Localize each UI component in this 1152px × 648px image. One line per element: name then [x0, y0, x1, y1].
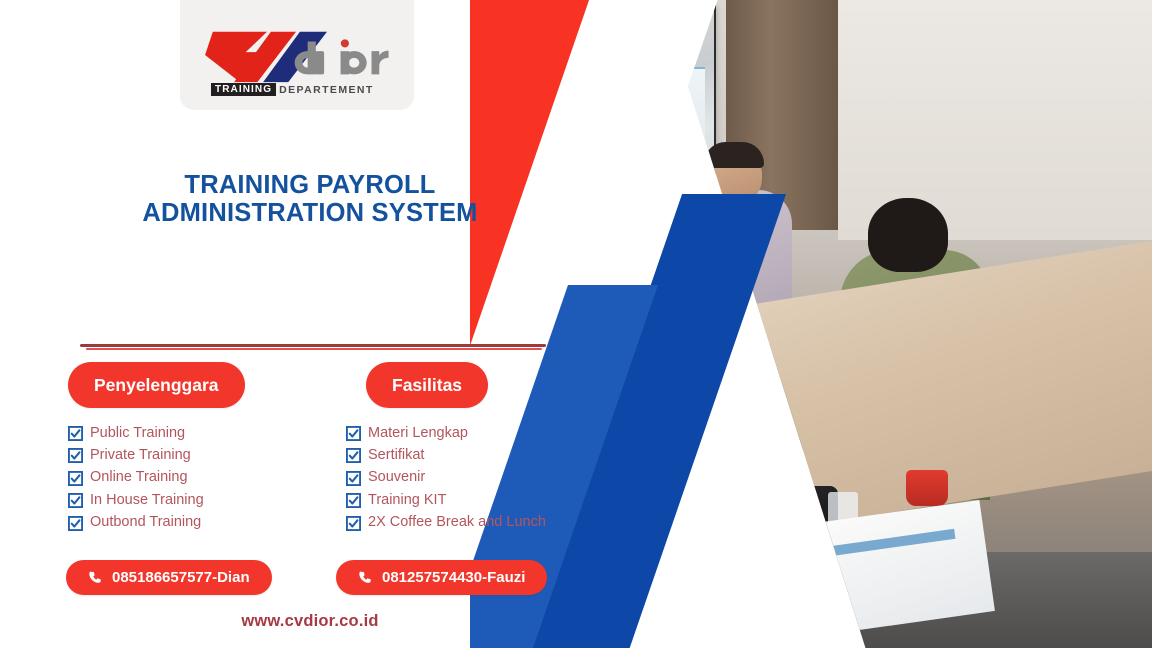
- checkbox-checked-icon: [68, 426, 83, 441]
- list-item: Public Training: [68, 422, 338, 444]
- list-item-label: Outbond Training: [90, 512, 201, 533]
- checkbox-checked-icon: [346, 516, 361, 531]
- checkbox-checked-icon: [346, 448, 361, 463]
- contact-button-dian[interactable]: 085186657577-Dian: [66, 560, 272, 595]
- list-item-label: Training KIT: [368, 490, 446, 511]
- logo-subtitle: TRAINING DEPARTEMENT: [195, 83, 399, 96]
- checkbox-checked-icon: [346, 493, 361, 508]
- list-item-label: 2X Coffee Break and Lunch: [368, 512, 546, 533]
- cv-dior-logo-icon: [195, 26, 399, 86]
- list-item-label: In House Training: [90, 490, 204, 511]
- divider-line-light: [86, 348, 542, 350]
- photo-bag: [726, 486, 838, 546]
- list-item: Materi Lengkap: [346, 422, 616, 444]
- poster-title: TRAINING PAYROLL ADMINISTRATION SYSTEM: [0, 172, 620, 227]
- list-item: Online Training: [68, 467, 338, 489]
- contact-label: 081257574430-Fauzi: [382, 569, 525, 586]
- list-penyelenggara: Public Training Private Training: [68, 422, 338, 534]
- website-url[interactable]: www.cvdior.co.id: [0, 612, 620, 631]
- list-item: In House Training: [68, 489, 338, 511]
- checkbox-checked-icon: [68, 516, 83, 531]
- poster-title-line2: ADMINISTRATION SYSTEM: [0, 200, 620, 228]
- contact-label: 085186657577-Dian: [112, 569, 250, 586]
- checkbox-checked-icon: [346, 471, 361, 486]
- list-item: Sertifikat: [346, 444, 616, 466]
- checkbox-checked-icon: [346, 426, 361, 441]
- promo-poster: TRAINING DEPARTEMENT TRAINING PAYROLL AD…: [0, 0, 1152, 648]
- list-item-label: Materi Lengkap: [368, 423, 468, 444]
- list-fasilitas: Materi Lengkap Sertifikat: [346, 422, 616, 534]
- phone-icon: [88, 570, 103, 585]
- photo-coffee-cup: [702, 448, 736, 474]
- logo-training-tag: TRAINING: [211, 83, 276, 96]
- phone-icon: [358, 570, 373, 585]
- list-item-label: Private Training: [90, 445, 191, 466]
- photo-pen: [676, 487, 732, 503]
- list-item-label: Souvenir: [368, 467, 425, 488]
- list-item: Training KIT: [346, 489, 616, 511]
- list-item: Private Training: [68, 444, 338, 466]
- column-penyelenggara: Penyelenggara Public Training: [68, 362, 338, 534]
- logo-departement-text: DEPARTEMENT: [279, 84, 374, 96]
- contact-button-fauzi[interactable]: 081257574430-Fauzi: [336, 560, 547, 595]
- poster-title-line1: TRAINING PAYROLL: [184, 171, 435, 199]
- brand-logo-card: TRAINING DEPARTEMENT: [180, 0, 414, 110]
- list-item: Outbond Training: [68, 512, 338, 534]
- brand-logo: TRAINING DEPARTEMENT: [195, 26, 399, 96]
- heading-pill-fasilitas[interactable]: Fasilitas: [366, 362, 488, 408]
- list-item-label: Online Training: [90, 467, 188, 488]
- checkbox-checked-icon: [68, 448, 83, 463]
- photo-red-cup: [906, 470, 948, 506]
- list-item: Souvenir: [346, 467, 616, 489]
- section-divider: [80, 344, 546, 350]
- list-item-label: Public Training: [90, 423, 185, 444]
- left-content-panel: TRAINING DEPARTEMENT TRAINING PAYROLL AD…: [0, 0, 620, 648]
- list-item: 2X Coffee Break and Lunch: [346, 512, 616, 534]
- divider-line-dark: [80, 344, 546, 347]
- list-item-label: Sertifikat: [368, 445, 424, 466]
- checkbox-checked-icon: [68, 493, 83, 508]
- checkbox-checked-icon: [68, 471, 83, 486]
- column-fasilitas: Fasilitas Materi Lengkap: [336, 362, 616, 534]
- heading-pill-penyelenggara[interactable]: Penyelenggara: [68, 362, 245, 408]
